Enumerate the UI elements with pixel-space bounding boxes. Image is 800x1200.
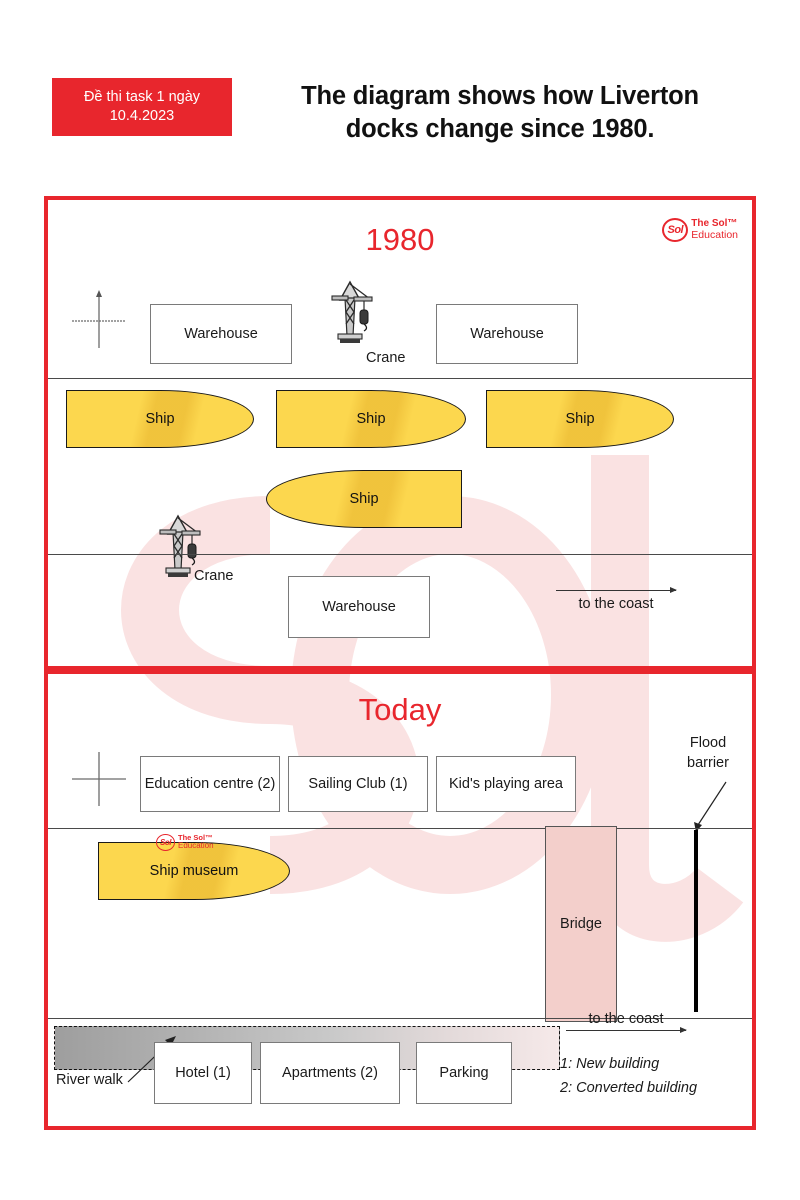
- sailing-club-box: Sailing Club (1): [288, 756, 428, 812]
- ship-label-2: Ship: [356, 411, 385, 427]
- compass-north-icon-today: [70, 746, 128, 810]
- arrow-head-icon-today: [680, 1027, 687, 1033]
- brand-logo: Sol The Sol™ Education: [662, 218, 738, 242]
- crane-icon-top: [324, 278, 376, 355]
- compass-north-icon: [70, 288, 128, 352]
- river-walk-label: River walk: [56, 1072, 123, 1088]
- legend-converted-building: 2: Converted building: [560, 1080, 697, 1096]
- education-centre-box: Education centre (2): [140, 756, 280, 812]
- sol-mark-icon-small: Sol: [156, 834, 175, 851]
- parking-box: Parking: [416, 1042, 512, 1104]
- title-line-2: docks change since 1980.: [250, 113, 750, 146]
- exam-date-badge: Đề thi task 1 ngày 10.4.2023: [52, 78, 232, 136]
- ship-shape-4: Ship: [266, 470, 462, 528]
- ship-shape-1: Ship: [66, 390, 254, 448]
- page-title: The diagram shows how Liverton docks cha…: [250, 80, 750, 146]
- badge-line-2: 10.4.2023: [110, 107, 175, 126]
- ship-label-4: Ship: [349, 491, 378, 507]
- crane-label-top: Crane: [366, 350, 406, 366]
- ship-label-1: Ship: [145, 411, 174, 427]
- hotel-box: Hotel (1): [154, 1042, 252, 1104]
- flood-barrier-line-1: Flood: [672, 734, 744, 754]
- legend-new-building: 1: New building: [560, 1056, 659, 1072]
- to-the-coast-label-1980: to the coast: [556, 596, 676, 612]
- to-the-coast-label-today: to the coast: [566, 1011, 686, 1027]
- panel-title-today: Today: [48, 692, 752, 728]
- quay-divider-line-bottom: [48, 554, 752, 555]
- arrow-head-icon: [670, 587, 677, 593]
- flood-barrier-line-2: barrier: [672, 754, 744, 774]
- panel-title-1980: 1980: [48, 222, 752, 258]
- water-divider-line-top: [48, 828, 752, 829]
- warehouse-box-top-left: Warehouse: [150, 304, 292, 364]
- warehouse-box-bottom: Warehouse: [288, 576, 430, 638]
- badge-line-1: Đề thi task 1 ngày: [84, 88, 200, 107]
- bridge-shape: Bridge: [545, 826, 617, 1022]
- sol-mark-icon: Sol: [662, 218, 688, 242]
- brand-name-line-2: Education: [691, 230, 738, 241]
- flood-barrier-line: [694, 830, 698, 1012]
- page-header: Đề thi task 1 ngày 10.4.2023 The diagram…: [0, 0, 800, 190]
- warehouse-box-top-right: Warehouse: [436, 304, 578, 364]
- flood-barrier-label: Flood barrier: [672, 734, 744, 773]
- title-line-1: The diagram shows how Liverton: [250, 80, 750, 113]
- crane-label-bottom: Crane: [194, 568, 234, 584]
- kids-playing-area-box: Kid's playing area: [436, 756, 576, 812]
- apartments-box: Apartments (2): [260, 1042, 400, 1104]
- ship-shape-3: Ship: [486, 390, 674, 448]
- diagram-panel-today: Today Education centre (2) Sailing Club …: [44, 670, 756, 1130]
- quay-divider-line-top: [48, 378, 752, 379]
- diagram-panel-1980: 1980 Sol The Sol™ Education Warehouse Wa…: [44, 196, 756, 670]
- ship-shape-2: Ship: [276, 390, 466, 448]
- brand-name-small-line-2: Education: [178, 842, 214, 850]
- brand-logo-small: Sol The Sol™ Education: [156, 834, 214, 851]
- ship-museum-label: Ship museum: [150, 863, 239, 879]
- ship-label-3: Ship: [565, 411, 594, 427]
